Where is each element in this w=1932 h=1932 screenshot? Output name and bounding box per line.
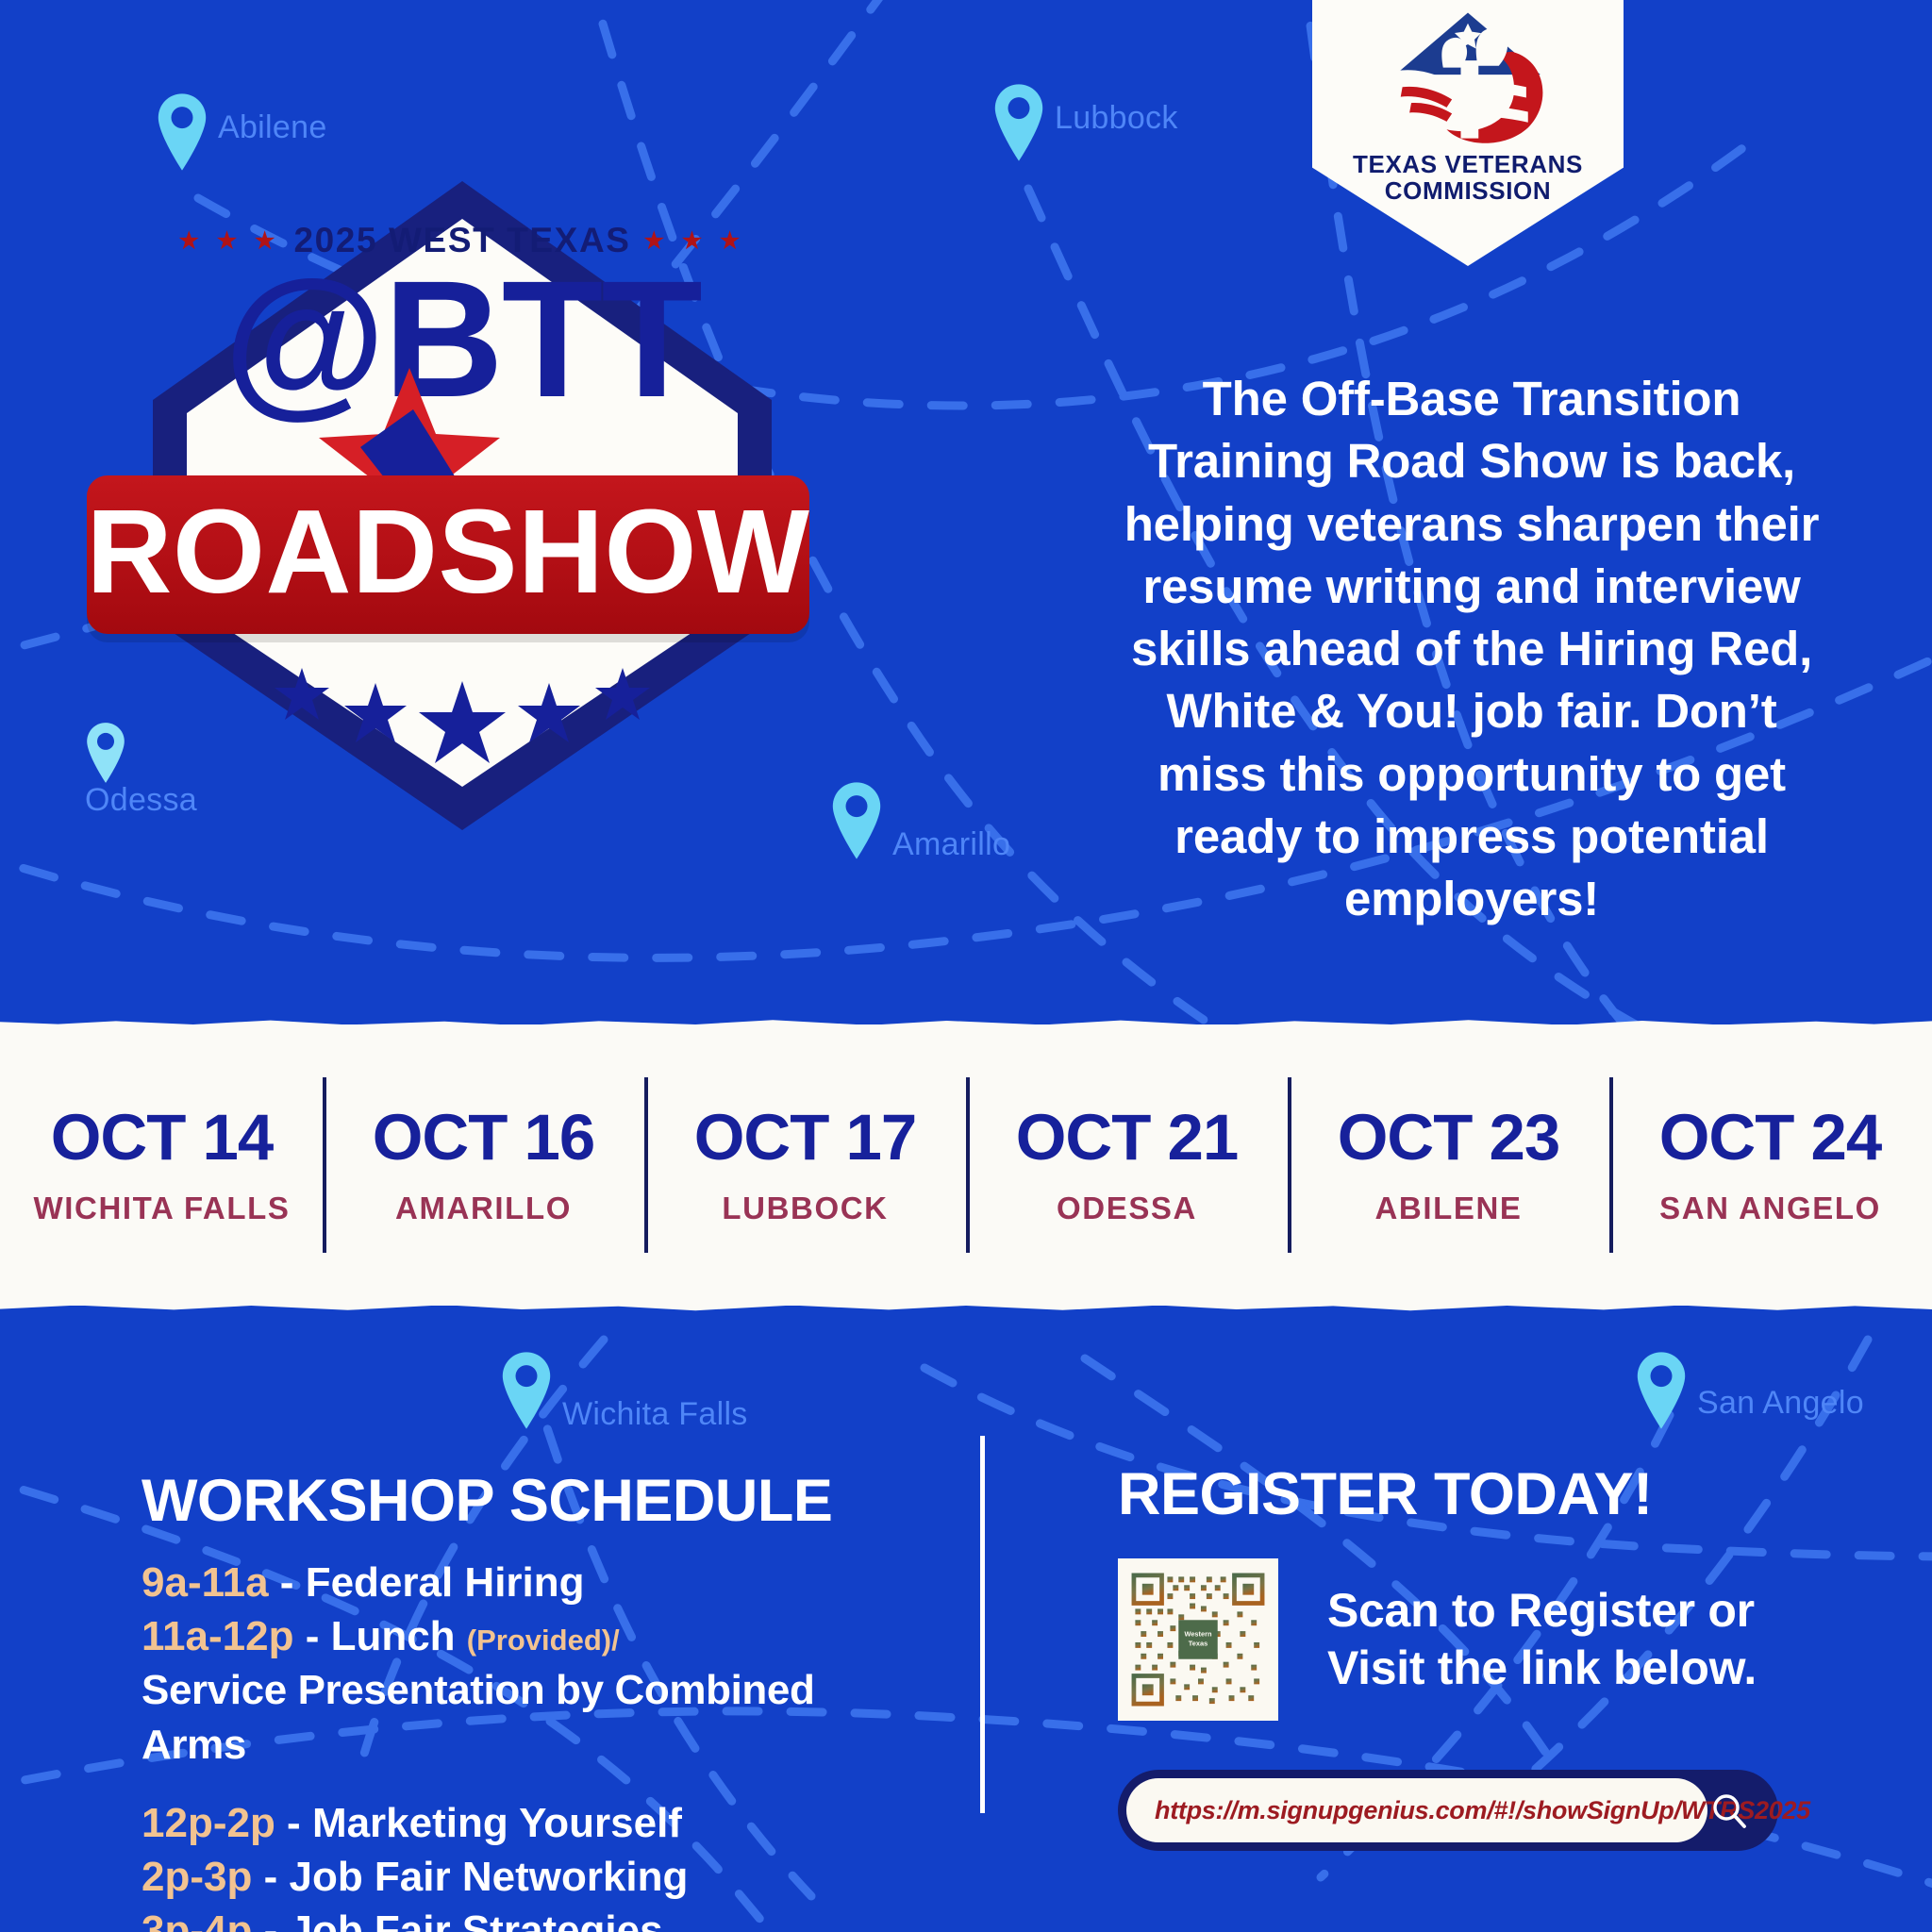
url-field[interactable]: https://m.signupgenius.com/#!/showSignUp…: [1126, 1778, 1707, 1842]
workshop-item-sep: -: [293, 1613, 330, 1659]
workshop-item-sep: -: [252, 1854, 289, 1900]
date-value: OCT 21: [1016, 1105, 1239, 1170]
date-value: OCT 23: [1338, 1105, 1560, 1170]
register-title: REGISTER TODAY!: [1118, 1460, 1863, 1528]
scan-line-1: Scan to Register or: [1327, 1582, 1757, 1640]
date-cell: OCT 17 LUBBOCK: [644, 1024, 966, 1306]
workshop-item-time: 2p-3p: [142, 1854, 252, 1900]
obtt-roadshow-badge: ★ ★ ★ 2025 WEST TEXAS ★ ★ ★ @BTT ROADSHO…: [113, 175, 811, 874]
map-pin-label: Abilene: [218, 109, 327, 146]
scan-line-2: Visit the link below.: [1327, 1640, 1757, 1697]
map-pin-lubbock: Lubbock: [992, 83, 1178, 162]
workshop-item: Service Presentation by Combined Arms: [142, 1663, 924, 1771]
workshop-item: 2p-3p - Job Fair Networking: [142, 1850, 924, 1904]
dates-row: OCT 14 WICHITA FALLS OCT 16 AMARILLO OCT…: [0, 1024, 1932, 1306]
map-pin-label: Wichita Falls: [562, 1396, 748, 1433]
badge-star-row-icon: [264, 653, 660, 766]
workshop-item-time: 3p-4p: [142, 1907, 252, 1932]
workshop-item-time: 12p-2p: [142, 1800, 275, 1846]
date-value: OCT 16: [373, 1105, 595, 1170]
intro-paragraph: The Off-Base Transition Training Road Sh…: [1113, 368, 1830, 931]
workshop-item: 9a-11a - Federal Hiring: [142, 1556, 924, 1609]
scan-instructions: Scan to Register or Visit the link below…: [1327, 1582, 1757, 1697]
dates-band: OCT 14 WICHITA FALLS OCT 16 AMARILLO OCT…: [0, 1024, 1932, 1306]
date-cell: OCT 21 ODESSA: [966, 1024, 1288, 1306]
date-value: OCT 24: [1659, 1105, 1882, 1170]
section-divider: [980, 1436, 985, 1813]
workshop-item-time: 9a-11a: [142, 1559, 269, 1606]
date-cell: OCT 24 SAN ANGELO: [1609, 1024, 1931, 1306]
date-cell: OCT 23 ABILENE: [1288, 1024, 1609, 1306]
map-pin-label: Amarillo: [892, 826, 1010, 863]
qr-center-line1: Western: [1184, 1629, 1212, 1638]
tvc-logo-line1: TEXAS VETERANS: [1353, 151, 1583, 177]
url-search-bar[interactable]: https://m.signupgenius.com/#!/showSignUp…: [1118, 1770, 1778, 1851]
workshop-item: 3p-4p - Job Fair Strategies: [142, 1904, 924, 1932]
date-cell: OCT 14 WICHITA FALLS: [1, 1024, 323, 1306]
register-section: REGISTER TODAY!: [1118, 1460, 1863, 1851]
qr-code[interactable]: Western Texas: [1118, 1558, 1278, 1721]
map-pin-label: Lubbock: [1055, 100, 1178, 137]
map-pin-abilene: Abilene: [156, 92, 327, 172]
date-city: ABILENE: [1374, 1191, 1522, 1226]
date-cell: OCT 16 AMARILLO: [323, 1024, 644, 1306]
map-pin-label: San Angelo: [1697, 1385, 1864, 1422]
workshop-item-label: Federal Hiring: [306, 1559, 585, 1606]
map-pin-amarillo: Amarillo: [830, 781, 1010, 863]
date-city: WICHITA FALLS: [34, 1191, 291, 1226]
map-pin-wichita-falls: Wichita Falls: [500, 1351, 748, 1433]
date-city: LUBBOCK: [722, 1191, 888, 1226]
workshop-item-label: Job Fair Strategies: [289, 1907, 662, 1932]
date-city: ODESSA: [1057, 1191, 1197, 1226]
map-pin-icon: [992, 83, 1045, 162]
qr-center-line2: Texas: [1189, 1640, 1207, 1648]
workshop-item-sep: -: [252, 1907, 289, 1932]
workshop-item: 11a-12p - Lunch (Provided)/: [142, 1609, 924, 1663]
date-value: OCT 14: [51, 1105, 274, 1170]
map-pin-icon: [830, 781, 883, 860]
workshop-item-time: 11a-12p: [142, 1613, 293, 1659]
workshop-item-note: (Provided)/: [467, 1624, 620, 1657]
workshop-item-label: Service Presentation by Combined Arms: [142, 1667, 814, 1767]
register-body: Western Texas Scan to Register or Visit …: [1118, 1558, 1863, 1721]
roadshow-banner: ROADSHOW: [87, 475, 809, 634]
magnifier-icon[interactable]: [1708, 1790, 1750, 1831]
workshop-schedule-section: WORKSHOP SCHEDULE 9a-11a - Federal Hirin…: [142, 1467, 924, 1932]
map-pin-icon: [500, 1351, 553, 1430]
workshop-item-label: Lunch: [331, 1613, 456, 1659]
roadshow-banner-text: ROADSHOW: [87, 492, 810, 617]
map-pin-san-angelo: San Angelo: [1635, 1351, 1864, 1430]
texas-veterans-commission-logo: TEXAS VETERANS COMMISSION: [1312, 0, 1624, 266]
map-pin-icon: [156, 92, 208, 172]
map-pin-icon: [1635, 1351, 1688, 1430]
workshop-item-sep: -: [269, 1559, 306, 1606]
workshop-item-sep: -: [275, 1800, 312, 1846]
tvc-logo-line2: COMMISSION: [1385, 177, 1551, 204]
date-city: SAN ANGELO: [1659, 1191, 1881, 1226]
poster-canvas: Abilene Lubbock Odessa Amarillo Wichita …: [0, 0, 1932, 1932]
workshop-item-label: Marketing Yourself: [312, 1800, 682, 1846]
date-city: AMARILLO: [395, 1191, 572, 1226]
workshop-schedule-title: WORKSHOP SCHEDULE: [142, 1467, 924, 1535]
qr-code-icon: Western Texas: [1128, 1569, 1268, 1710]
workshop-item: 12p-2p - Marketing Yourself: [142, 1796, 924, 1850]
workshop-item-label: Job Fair Networking: [289, 1854, 688, 1900]
date-value: OCT 17: [694, 1105, 917, 1170]
tvc-emblem-icon: [1378, 6, 1557, 147]
